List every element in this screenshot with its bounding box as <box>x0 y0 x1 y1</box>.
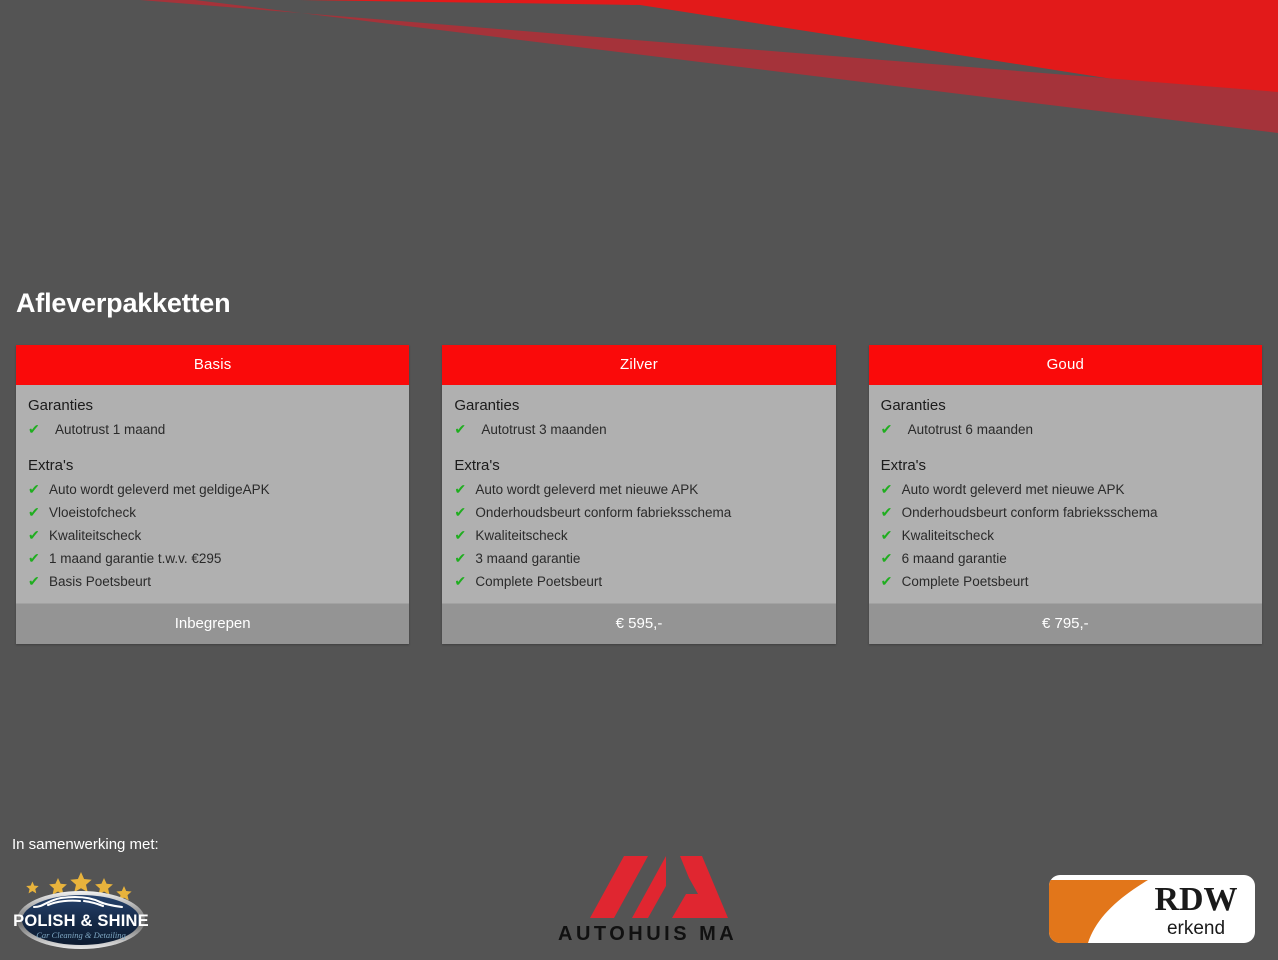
banner-shapes <box>0 0 1278 150</box>
list-item: ✔ Kwaliteitscheck <box>26 524 399 547</box>
list-item-label: Autotrust 1 maand <box>43 419 165 441</box>
list-item-label: 6 maand garantie <box>896 548 1007 570</box>
check-icon: ✔ <box>881 524 896 546</box>
extras-title: Extra's <box>881 457 1252 474</box>
list-item-label: Vloeistofcheck <box>43 502 136 524</box>
check-icon: ✔ <box>881 501 896 523</box>
guarantees-list: ✔ Autotrust 6 maanden <box>879 418 1252 441</box>
extras-title: Extra's <box>454 457 825 474</box>
list-item: ✔ Kwaliteitscheck <box>879 524 1252 547</box>
list-item: ✔ 1 maand garantie t.w.v. €295 <box>26 547 399 570</box>
list-item: ✔ Auto wordt geleverd met nieuwe APK <box>879 478 1252 501</box>
check-icon: ✔ <box>28 418 43 440</box>
check-icon: ✔ <box>454 478 469 500</box>
guarantees-title: Garanties <box>454 397 825 414</box>
package-card-zilver[interactable]: Zilver Garanties ✔ Autotrust 3 maanden E… <box>442 345 835 644</box>
list-item: ✔ Autotrust 6 maanden <box>879 418 1252 441</box>
package-header-basis: Basis <box>16 345 409 385</box>
check-icon: ✔ <box>881 570 896 592</box>
rdw-subtitle: erkend <box>1167 918 1225 939</box>
list-item-label: Autotrust 3 maanden <box>469 419 606 441</box>
guarantees-list: ✔ Autotrust 3 maanden <box>452 418 825 441</box>
polish-shine-logo: POLISH & SHINE Car Cleaning & Detailing <box>14 858 149 958</box>
extras-title: Extra's <box>28 457 399 474</box>
list-item-label: Autotrust 6 maanden <box>896 419 1033 441</box>
list-item-label: 1 maand garantie t.w.v. €295 <box>43 548 221 570</box>
check-icon: ✔ <box>28 547 43 569</box>
check-icon: ✔ <box>881 418 896 440</box>
list-item: ✔ Complete Poetsbeurt <box>452 570 825 593</box>
package-card-goud[interactable]: Goud Garanties ✔ Autotrust 6 maanden Ext… <box>869 345 1262 644</box>
banner-bright-red-band <box>300 0 1278 105</box>
list-item: ✔ Vloeistofcheck <box>26 501 399 524</box>
list-item: ✔ Onderhoudsbeurt conform fabrieksschema <box>452 501 825 524</box>
autohuis-logo: AUTOHUIS MA <box>558 852 737 946</box>
guarantees-title: Garanties <box>28 397 399 414</box>
partners-label: In samenwerking met: <box>12 836 159 853</box>
autohuis-caption: AUTOHUIS MA <box>558 923 737 946</box>
list-item: ✔ Autotrust 3 maanden <box>452 418 825 441</box>
list-item: ✔ Kwaliteitscheck <box>452 524 825 547</box>
list-item-label: 3 maand garantie <box>469 548 580 570</box>
list-item-label: Auto wordt geleverd met nieuwe APK <box>896 479 1125 501</box>
check-icon: ✔ <box>454 570 469 592</box>
package-body-zilver: Garanties ✔ Autotrust 3 maanden Extra's … <box>442 385 835 603</box>
check-icon: ✔ <box>28 501 43 523</box>
check-icon: ✔ <box>454 524 469 546</box>
check-icon: ✔ <box>28 524 43 546</box>
rdw-logo-svg: RDW erkend <box>1048 874 1256 944</box>
list-item: ✔ Auto wordt geleverd met nieuwe APK <box>452 478 825 501</box>
extras-list: ✔ Auto wordt geleverd met nieuwe APK ✔ O… <box>879 478 1252 593</box>
list-item: ✔ 3 maand garantie <box>452 547 825 570</box>
guarantees-list: ✔ Autotrust 1 maand <box>26 418 399 441</box>
extras-list: ✔ Auto wordt geleverd met geldigeAPK ✔ V… <box>26 478 399 593</box>
list-item-label: Onderhoudsbeurt conform fabrieksschema <box>896 502 1158 524</box>
check-icon: ✔ <box>28 570 43 592</box>
check-icon: ✔ <box>454 418 469 440</box>
rdw-logo: RDW erkend <box>1048 874 1256 949</box>
package-price-goud: € 795,- <box>869 603 1262 644</box>
list-item-label: Basis Poetsbeurt <box>43 571 151 593</box>
package-header-goud: Goud <box>869 345 1262 385</box>
list-item-label: Complete Poetsbeurt <box>469 571 602 593</box>
list-item: ✔ Auto wordt geleverd met geldigeAPK <box>26 478 399 501</box>
package-price-basis: Inbegrepen <box>16 603 409 644</box>
list-item-label: Auto wordt geleverd met nieuwe APK <box>469 479 698 501</box>
banner-muted-red-band <box>140 0 1278 133</box>
check-icon: ✔ <box>28 478 43 500</box>
check-icon: ✔ <box>881 547 896 569</box>
package-price-zilver: € 595,- <box>442 603 835 644</box>
list-item: ✔ Onderhoudsbeurt conform fabrieksschema <box>879 501 1252 524</box>
guarantees-title: Garanties <box>881 397 1252 414</box>
polish-shine-logo-svg: POLISH & SHINE Car Cleaning & Detailing <box>14 858 149 953</box>
package-body-goud: Garanties ✔ Autotrust 6 maanden Extra's … <box>869 385 1262 603</box>
list-item-label: Kwaliteitscheck <box>469 525 567 547</box>
list-item: ✔ Basis Poetsbeurt <box>26 570 399 593</box>
extras-list: ✔ Auto wordt geleverd met nieuwe APK ✔ O… <box>452 478 825 593</box>
list-item: ✔ Complete Poetsbeurt <box>879 570 1252 593</box>
package-card-basis[interactable]: Basis Garanties ✔ Autotrust 1 maand Extr… <box>16 345 409 644</box>
polish-shine-tagline: Car Cleaning & Detailing <box>36 930 126 940</box>
list-item: ✔ Autotrust 1 maand <box>26 418 399 441</box>
package-cards-row: Basis Garanties ✔ Autotrust 1 maand Extr… <box>16 345 1262 644</box>
page-title: Afleverpakketten <box>16 288 230 319</box>
package-body-basis: Garanties ✔ Autotrust 1 maand Extra's ✔ … <box>16 385 409 603</box>
list-item-label: Complete Poetsbeurt <box>896 571 1029 593</box>
check-icon: ✔ <box>881 478 896 500</box>
check-icon: ✔ <box>454 547 469 569</box>
list-item-label: Kwaliteitscheck <box>896 525 994 547</box>
autohuis-ma-mark <box>568 852 728 920</box>
ma-monogram-icon <box>590 856 728 918</box>
check-icon: ✔ <box>454 501 469 523</box>
polish-shine-wordmark: POLISH & SHINE <box>14 912 149 930</box>
list-item: ✔ 6 maand garantie <box>879 547 1252 570</box>
list-item-label: Onderhoudsbeurt conform fabrieksschema <box>469 502 731 524</box>
rdw-wordmark: RDW <box>1154 881 1237 918</box>
top-banner-decoration <box>0 0 1278 150</box>
list-item-label: Auto wordt geleverd met geldigeAPK <box>43 479 270 501</box>
list-item-label: Kwaliteitscheck <box>43 525 141 547</box>
package-header-zilver: Zilver <box>442 345 835 385</box>
